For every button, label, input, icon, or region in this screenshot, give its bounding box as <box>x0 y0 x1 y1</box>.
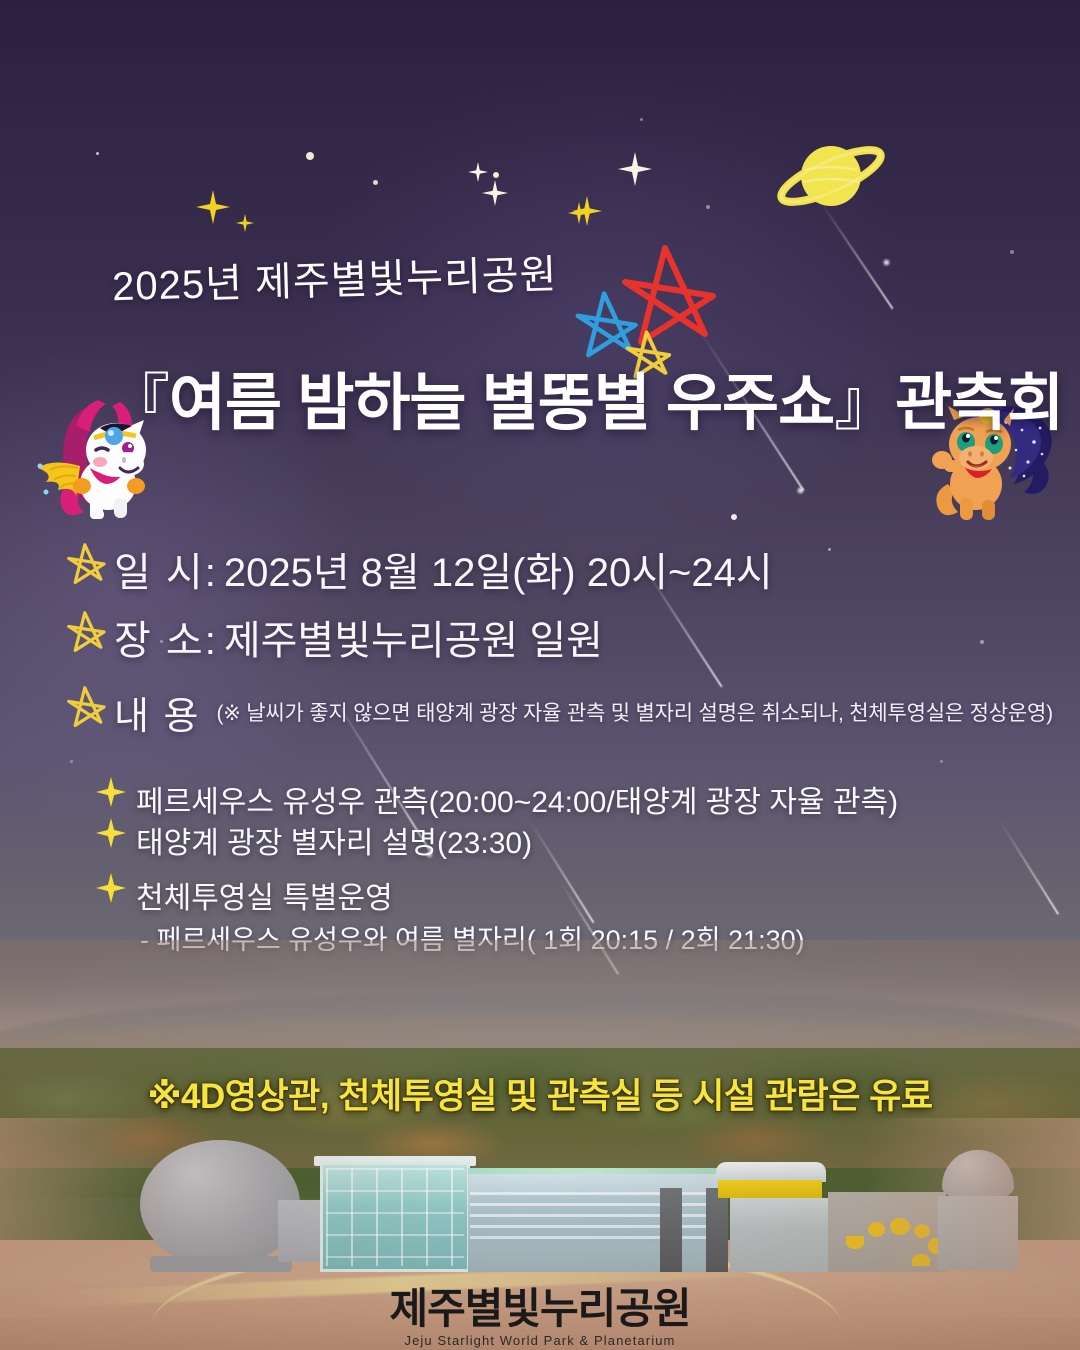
title-main: 여름 밤하늘 별똥별 우주쇼 <box>169 369 834 438</box>
meteor-icon <box>882 258 891 267</box>
event-date-value: 2025년 8월 12일(화) 20시~24시 <box>224 540 773 598</box>
list-item: 태양계 광장 별자리 설명(23:30) <box>96 818 532 862</box>
list-item-label: 천체투영실 특별운영 <box>136 873 393 917</box>
star-outline-icon <box>64 541 108 597</box>
title-close-bracket: 』 <box>834 369 895 438</box>
event-date-label: 일 시: <box>114 540 218 598</box>
park-logo: 제주별빛누리공원 Jeju Starlight World Park & Pla… <box>0 1288 1080 1348</box>
title-suffix: 관측회 <box>895 369 1063 438</box>
logo-korean-name: 제주별빛누리공원 <box>0 1288 1080 1330</box>
event-place-row: 장 소: 제주별빛누리공원 일원 <box>64 608 603 666</box>
page-title: 『여름 밤하늘 별똥별 우주쇼』관측회 <box>108 352 1063 442</box>
logo-english-name: Jeju Starlight World Park & Planetarium <box>0 1333 1080 1348</box>
event-content-note: (※ 날씨가 좋지 않으면 태양계 광장 자율 관측 및 별자리 설명은 취소되… <box>216 697 1052 727</box>
sparkle-icon <box>236 214 254 237</box>
sparkle-icon <box>618 152 652 191</box>
star-outline-icon <box>64 684 108 740</box>
poster-kicker: 2025년 제주별빛누리공원 <box>111 242 558 312</box>
saturn-icon <box>775 130 887 227</box>
list-item: 천체투영실 특별운영 <box>96 873 393 917</box>
list-item-label: 페르세우스 유성우 관측(20:00~24:00/태양계 광장 자율 관측) <box>136 777 898 821</box>
sparkle-icon <box>468 162 488 187</box>
star-outline-icon <box>64 609 108 665</box>
meteor-icon <box>796 486 805 495</box>
event-date-row: 일 시: 2025년 8월 12일(화) 20시~24시 <box>64 540 773 598</box>
sparkle-icon <box>196 190 230 229</box>
sparkle-icon <box>96 873 126 911</box>
list-item: 페르세우스 유성우 관측(20:00~24:00/태양계 광장 자율 관측) <box>96 777 898 821</box>
sparkle-icon <box>572 196 602 231</box>
event-content-label: 내 용 <box>114 685 200 740</box>
event-content-row: 내 용 (※ 날씨가 좋지 않으면 태양계 광장 자율 관측 및 별자리 설명은… <box>64 684 1053 740</box>
title-open-bracket: 『 <box>108 369 169 438</box>
sparkle-icon <box>96 818 126 856</box>
list-item-label: 태양계 광장 별자리 설명(23:30) <box>136 818 532 862</box>
poster-canvas: 2025년 제주별빛누리공원 『여름 밤하늘 별똥별 우주쇼』관측회 일 시: … <box>0 0 1080 1350</box>
event-place-value: 제주별빛누리공원 일원 <box>224 608 603 666</box>
paid-facilities-note: ※4D영상관, 천체투영실 및 관측실 등 시설 관람은 유료 <box>0 1068 1080 1119</box>
event-place-label: 장 소: <box>114 608 218 666</box>
sparkle-icon <box>96 777 126 815</box>
